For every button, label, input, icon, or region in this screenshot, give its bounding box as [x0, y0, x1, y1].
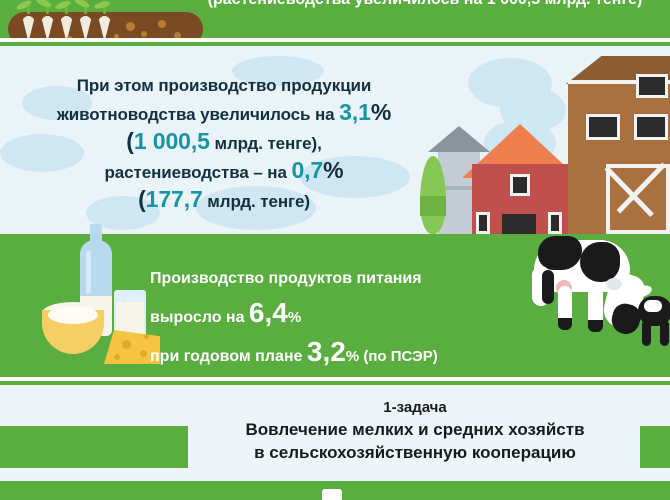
annual-plan-source: (по ПСЭР): [359, 348, 438, 365]
food-growth-percent: %: [288, 309, 301, 326]
stats-line-5: (177,7 млрд. тенге): [18, 186, 430, 215]
stats-line-2: животноводства увеличилось на 3,1%: [18, 99, 430, 128]
livestock-crop-stats-text: При этом производство продукции животнов…: [18, 72, 430, 215]
food-line-2: выросло на 6,4%: [150, 296, 550, 335]
livestock-value: 1 000,5: [134, 128, 210, 154]
food-line-1: Производство продуктов питания: [150, 262, 550, 296]
paren-open-1: (: [126, 128, 134, 154]
food-line-3-prefix: при годовом плане: [150, 348, 307, 365]
crop-value: 177,7: [146, 186, 203, 212]
task-accent-bar-left: [0, 426, 188, 468]
paren-open-2: (: [138, 186, 146, 212]
brown-barn-window-3: [636, 74, 668, 98]
food-line-3: при годовом плане 3,2% (по ПСЭР): [150, 335, 550, 374]
task-line-1: Вовлечение мелких и средних хозяйств: [195, 418, 635, 441]
crop-unit: млрд. тенге): [203, 192, 310, 211]
red-barn-window-right: [548, 212, 562, 234]
brown-barn-window-2: [634, 114, 668, 140]
food-production-text: Производство продуктов питания выросло н…: [150, 262, 550, 374]
task-line-2: в сельскохозяйственную кооперацию: [195, 441, 635, 464]
stats-line-2-prefix: животноводства увеличилось на: [57, 105, 339, 124]
task-text-block: 1-задача Вовлечение мелких и средних хоз…: [195, 398, 635, 464]
annual-plan-percent: %: [346, 348, 359, 365]
infographic-canvas: (растениеводства увеличилось на 1 000,5 …: [0, 0, 670, 500]
brown-barn-window-1: [586, 114, 620, 140]
red-barn-window-left: [476, 212, 490, 234]
red-barn-window-top: [510, 174, 530, 196]
livestock-growth-percent: %: [371, 99, 391, 125]
top-banner-text: (растениеводства увеличилось на 1 000,5 …: [190, 0, 660, 9]
food-line-2-prefix: выросло на: [150, 309, 249, 326]
farm-scene-icon: [420, 46, 670, 234]
livestock-unit: млрд. тенге),: [210, 134, 322, 153]
crop-growth-percent: %: [323, 157, 343, 183]
stats-line-4-prefix: растениеводства – на: [105, 163, 292, 182]
food-growth-value: 6,4: [249, 297, 288, 328]
task-accent-bar-right: [640, 426, 670, 468]
livestock-growth-value: 3,1: [339, 99, 371, 125]
bottom-marker-icon: [322, 489, 342, 500]
stats-line-4: растениеводства – на 0,7%: [18, 157, 430, 186]
stats-line-1: При этом производство продукции: [18, 72, 430, 99]
annual-plan-value: 3,2: [307, 336, 346, 367]
task-title: 1-задача: [195, 398, 635, 418]
red-barn-door: [502, 214, 536, 234]
silo-icon: [428, 126, 490, 152]
stats-line-3: (1 000,5 млрд. тенге),: [18, 128, 430, 157]
crop-growth-value: 0,7: [291, 157, 323, 183]
